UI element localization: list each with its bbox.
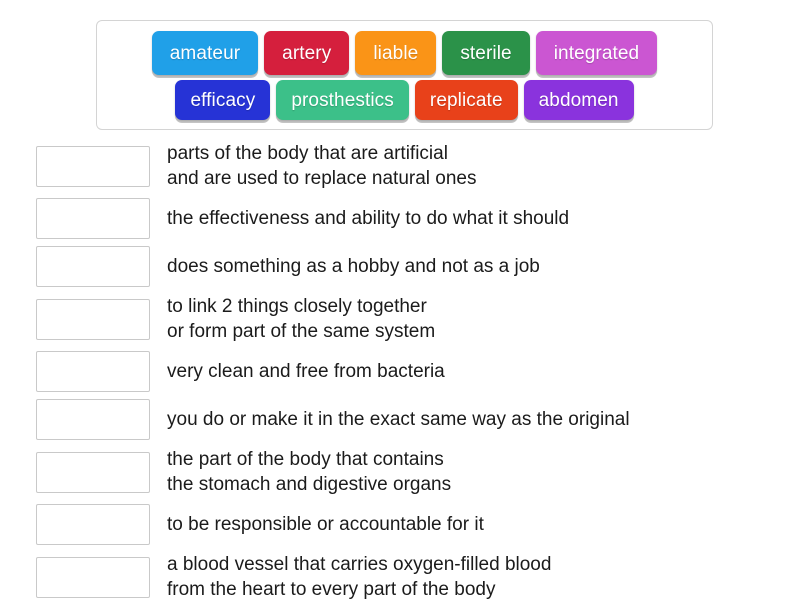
definition-text: the part of the body that contains the s… [167,447,766,497]
answer-drop-zone[interactable] [36,299,150,340]
word-tile-amateur[interactable]: amateur [152,31,258,75]
word-tile-artery[interactable]: artery [264,31,349,75]
match-up-activity: amateurarteryliablesterileintegrated eff… [0,0,800,600]
word-tile-liable[interactable]: liable [355,31,436,75]
word-tile-prosthestics[interactable]: prosthestics [276,80,409,120]
answer-drop-zone[interactable] [36,557,150,598]
answer-drop-zone[interactable] [36,504,150,545]
definition-text: to be responsible or accountable for it [167,512,766,537]
match-row: the part of the body that contains the s… [36,447,766,497]
match-row: to be responsible or accountable for it [36,504,766,545]
word-tile-sterile[interactable]: sterile [442,31,529,75]
answer-drop-zone[interactable] [36,351,150,392]
answer-drop-zone[interactable] [36,452,150,493]
word-tile-efficacy[interactable]: efficacy [175,80,270,120]
tile-row-1: amateurarteryliablesterileintegrated [152,31,657,75]
answer-drop-zone[interactable] [36,399,150,440]
definition-text: does something as a hobby and not as a j… [167,254,766,279]
definition-text: to link 2 things closely together or for… [167,294,766,344]
definition-list: parts of the body that are artificial an… [36,141,766,600]
match-row: does something as a hobby and not as a j… [36,246,766,287]
match-row: the effectiveness and ability to do what… [36,198,766,239]
word-tile-integrated[interactable]: integrated [536,31,658,75]
definition-text: you do or make it in the exact same way … [167,407,766,432]
definition-text: the effectiveness and ability to do what… [167,206,766,231]
answer-drop-zone[interactable] [36,146,150,187]
word-tile-abdomen[interactable]: abdomen [524,80,634,120]
match-row: very clean and free from bacteria [36,351,766,392]
answer-drop-zone[interactable] [36,246,150,287]
answer-drop-zone[interactable] [36,198,150,239]
word-tile-replicate[interactable]: replicate [415,80,518,120]
match-row: parts of the body that are artificial an… [36,141,766,191]
tile-row-2: efficacyprosthesticsreplicateabdomen [175,80,633,120]
match-row: to link 2 things closely together or for… [36,294,766,344]
word-tile-bank: amateurarteryliablesterileintegrated eff… [96,20,713,130]
match-row: a blood vessel that carries oxygen-fille… [36,552,766,600]
definition-text: a blood vessel that carries oxygen-fille… [167,552,766,600]
definition-text: very clean and free from bacteria [167,359,766,384]
match-row: you do or make it in the exact same way … [36,399,766,440]
definition-text: parts of the body that are artificial an… [167,141,766,191]
